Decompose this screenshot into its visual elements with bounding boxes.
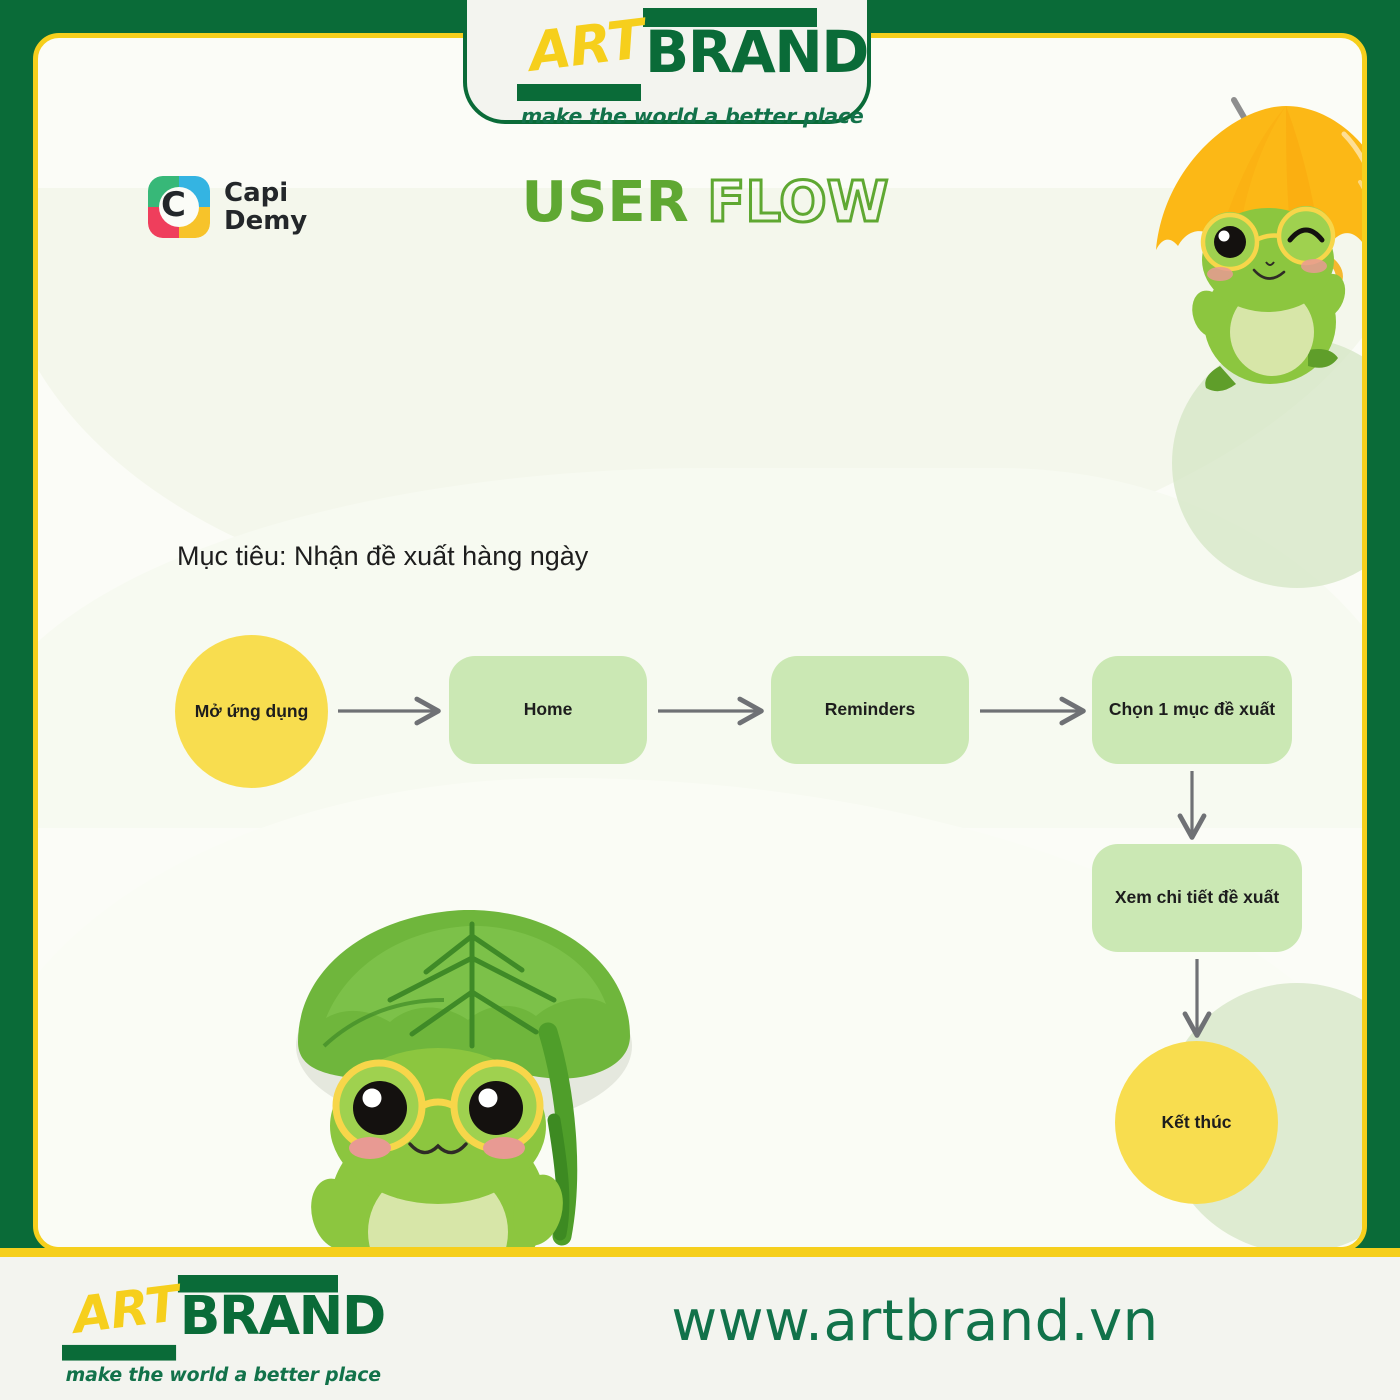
frog-with-lotus-leaf-icon	[286, 896, 646, 1252]
footer-divider-bar	[0, 1248, 1400, 1257]
artbrand-header-logo: ART BRAND make the world a better place	[463, 0, 871, 124]
page-title-user: USER	[522, 170, 689, 235]
flow-node-end[interactable]: Kết thúc	[1115, 1041, 1278, 1204]
poster-card: C Capi Demy USER FLOW Mục tiêu: Nhận đề …	[33, 33, 1367, 1252]
poster-outer-frame: C Capi Demy USER FLOW Mục tiêu: Nhận đề …	[0, 0, 1400, 1400]
artbrand-brand-text: BRAND	[645, 18, 868, 86]
flow-node-reminders[interactable]: Reminders	[771, 656, 969, 764]
footer-website-url[interactable]: www.artbrand.vn	[0, 1289, 1400, 1354]
goal-label: Mục tiêu: Nhận đề xuất hàng ngày	[177, 541, 588, 572]
artbrand-tagline: make the world a better place	[521, 104, 821, 128]
flow-node-home[interactable]: Home	[449, 656, 647, 764]
frog-with-yellow-umbrella-icon	[1138, 78, 1367, 408]
artbrand-under-bar	[517, 84, 641, 101]
footer-artbrand-tagline: make the world a better place	[66, 1363, 342, 1385]
footer: ART BRAND make the world a better place …	[0, 1255, 1400, 1400]
flow-node-open-app[interactable]: Mở ứng dụng	[175, 635, 328, 788]
flow-node-choose-item[interactable]: Chọn 1 mục đề xuất	[1092, 656, 1292, 764]
artbrand-art-text: ART	[526, 7, 648, 84]
page-title-flow: FLOW	[707, 170, 888, 235]
flow-node-view-detail[interactable]: Xem chi tiết đề xuất	[1092, 844, 1302, 952]
